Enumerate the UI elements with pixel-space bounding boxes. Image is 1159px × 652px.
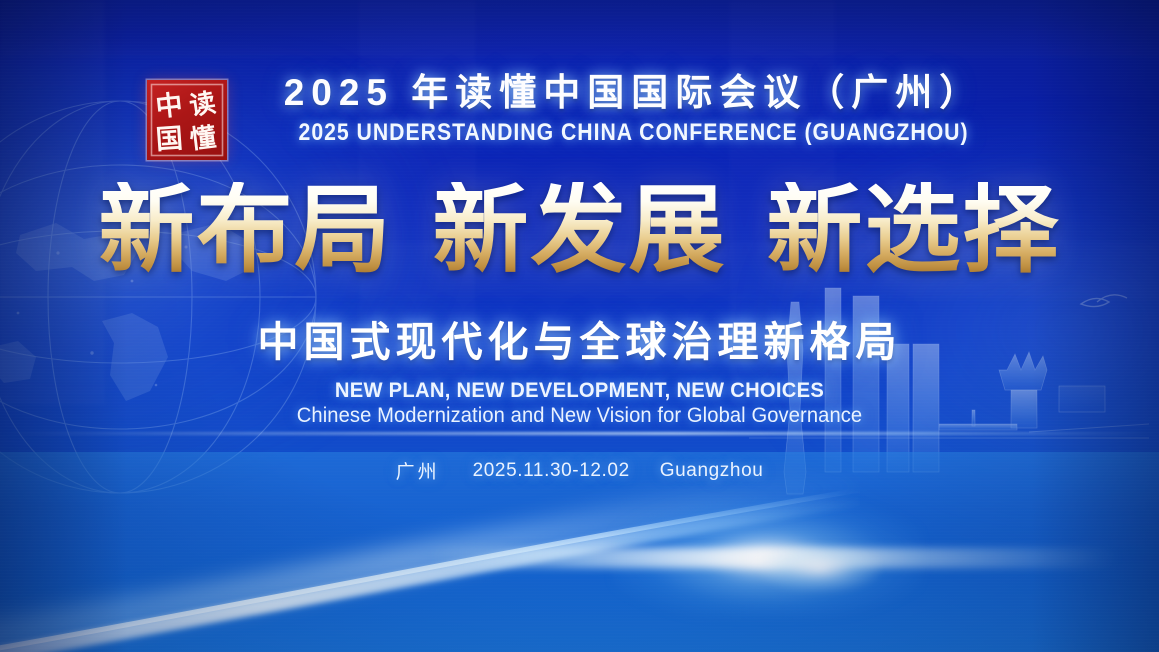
subheadline-cn: 中国式现代化与全球治理新格局 bbox=[0, 308, 1159, 368]
headline-gold: 新布局新发展新选择 bbox=[0, 182, 1159, 278]
svg-text:懂: 懂 bbox=[188, 123, 217, 156]
subheadline-en-line1: NEW PLAN, NEW DEVELOPMENT, NEW CHOICES bbox=[23, 379, 1136, 403]
svg-text:国: 国 bbox=[155, 123, 184, 156]
conference-title-card: 中 读 国 懂 2025 年读懂中国国际会议（广州） 2025 UNDERSTA… bbox=[0, 0, 1159, 652]
event-dates: 2025.11.30-12.02 bbox=[473, 460, 630, 482]
event-city-cn: 广州 bbox=[396, 457, 440, 484]
subheadline-en-line2: Chinese Modernization and New Vision for… bbox=[23, 404, 1136, 428]
event-city-en: Guangzhou bbox=[660, 460, 764, 482]
understanding-china-seal-icon: 中 读 国 懂 bbox=[147, 80, 227, 160]
event-meta: 广州 2025.11.30-12.02 Guangzhou bbox=[0, 457, 1159, 484]
svg-text:读: 读 bbox=[188, 88, 218, 122]
svg-text:中: 中 bbox=[154, 90, 184, 124]
page-title-cn: 2025 年读懂中国国际会议（广州） bbox=[255, 72, 1012, 113]
headline-part-3: 新选择 bbox=[767, 173, 1061, 286]
headline-part-1: 新布局 bbox=[99, 173, 393, 286]
header: 中 读 国 懂 2025 年读懂中国国际会议（广州） 2025 UNDERSTA… bbox=[0, 72, 1159, 160]
page-title-en: 2025 UNDERSTANDING CHINA CONFERENCE (GUA… bbox=[298, 119, 968, 147]
title-block: 2025 年读懂中国国际会议（广州） 2025 UNDERSTANDING CH… bbox=[255, 72, 1012, 147]
headline-part-2: 新发展 bbox=[433, 173, 727, 286]
